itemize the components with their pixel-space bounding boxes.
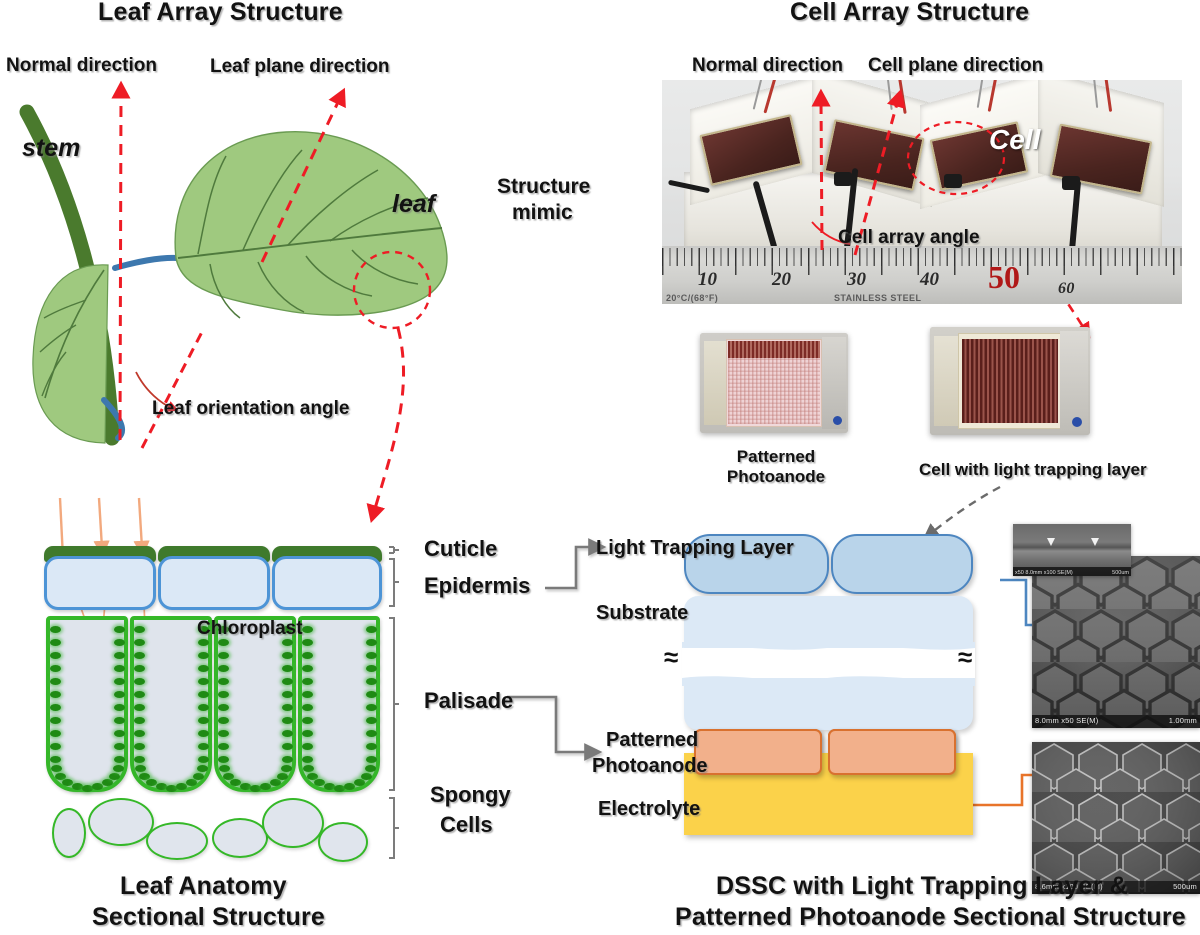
chloroplast-dot [277, 773, 288, 780]
epidermis-cell-3 [272, 556, 382, 610]
chloroplast-dot [218, 756, 229, 763]
label-cell: Cell [989, 124, 1040, 156]
chloroplast-dot [366, 678, 377, 685]
epidermis-to-ltl-connector [545, 547, 596, 588]
chloroplast-dot [186, 779, 197, 786]
chloroplast-dot [114, 678, 125, 685]
chloroplast-dot [366, 717, 377, 724]
chloroplast-dot [134, 730, 145, 737]
chloroplast-dot [198, 704, 209, 711]
chloroplast-dot [50, 717, 61, 724]
spongy-cell-1 [52, 808, 86, 858]
spongy-cell-2 [88, 798, 154, 846]
chloroplast-dot [218, 730, 229, 737]
chloroplast-dot [282, 639, 293, 646]
caption-pa-line2: Photoanode [727, 467, 825, 486]
label-normal-direction-left: Normal direction [6, 55, 157, 77]
spongy-cell-5 [262, 798, 324, 848]
chloroplast-dot [218, 743, 229, 750]
chloroplast-dot [250, 785, 261, 792]
chloroplast-dot [134, 639, 145, 646]
chloroplast-dot [50, 730, 61, 737]
label-structure-mimic-line2: mimic [512, 201, 573, 225]
patterned-photoanode-block-2-overlay [828, 729, 956, 775]
chloroplast-dot [302, 678, 313, 685]
chloroplast-dot [134, 665, 145, 672]
label-cell-array-angle: Cell array angle [838, 227, 980, 249]
chloroplast-dot [166, 785, 177, 792]
label-epidermis: Epidermis [424, 573, 530, 599]
panel-title-leaf-array: Leaf Array Structure [98, 0, 343, 27]
chloroplast-dot [218, 639, 229, 646]
sem-bottom-scale-right: 500um [1173, 882, 1197, 891]
chloroplast-dot [50, 704, 61, 711]
label-substrate: Substrate [596, 602, 688, 625]
leaf-zoom-circle [354, 252, 430, 328]
chloroplast-dot [114, 743, 125, 750]
chloroplast-dot [134, 691, 145, 698]
chloroplast-dot [366, 639, 377, 646]
chloroplast-dot [114, 717, 125, 724]
label-cuticle: Cuticle [424, 536, 497, 562]
label-spongy-line1: Spongy [430, 782, 511, 808]
chloroplast-dot [282, 717, 293, 724]
chloroplast-dot [198, 678, 209, 685]
chloroplast-dot [114, 665, 125, 672]
big-leaf-shape [175, 132, 447, 315]
sem-image-light-trapping-layer: 8.0mm x50 SE(M) 1.00mm [1032, 556, 1200, 728]
chloroplast-dot [114, 756, 125, 763]
chloroplast-dot [218, 691, 229, 698]
chloroplast-dot [302, 626, 313, 633]
figure-root: Leaf Array Structure Cell Array Structur… [0, 0, 1200, 935]
chloroplast-dot [282, 704, 293, 711]
chloroplast-dot [366, 652, 377, 659]
chloroplast-dot [50, 665, 61, 672]
chloroplast-dot [302, 639, 313, 646]
label-leaf: leaf [392, 190, 435, 219]
chloroplast-dot [324, 783, 335, 790]
chloroplast-dot [366, 730, 377, 737]
chloroplast-dot [282, 652, 293, 659]
chloroplast-dot [282, 743, 293, 750]
chloroplast-dot [302, 730, 313, 737]
steel-ruler: 10 20 30 40 50 60 20°C/(68°F) STAINLESS … [662, 246, 1182, 304]
substrate-break-right: ≈ [958, 642, 972, 673]
chloroplast-dot [156, 783, 167, 790]
label-patterned-line1: Patterned [606, 729, 698, 752]
light-trapping-layer-block-2 [831, 534, 973, 594]
chloroplast-dot [218, 665, 229, 672]
label-palisade: Palisade [424, 688, 513, 714]
chloroplast-dot [282, 665, 293, 672]
chloroplast-dot [282, 691, 293, 698]
bottom-left-title-line1: Leaf Anatomy [120, 872, 287, 901]
chloroplast-dot [354, 779, 365, 786]
bottom-right-title-line1: DSSC with Light Trapping Layer & [716, 872, 1128, 901]
chloroplast-dot [198, 691, 209, 698]
chloroplast-dot [134, 626, 145, 633]
patterned-photoanode-photo [700, 333, 848, 433]
chloroplast-dot [50, 691, 61, 698]
chloroplast-dot [50, 639, 61, 646]
substrate-break-left: ≈ [664, 642, 678, 673]
chloroplast-dot [218, 717, 229, 724]
palisade-to-photoanode-connector [507, 697, 592, 752]
chloroplast-dot [198, 639, 209, 646]
chloroplast-dot [72, 783, 83, 790]
leaf-to-anatomy-connector [374, 328, 404, 512]
petiole-upper [115, 258, 178, 268]
bottom-right-title-line2: Patterned Photoanode Sectional Structure [675, 903, 1186, 932]
epidermis-cell-1 [44, 556, 156, 610]
chloroplast-dot [50, 626, 61, 633]
chloroplast-dot [114, 639, 125, 646]
label-spongy-line2: Cells [440, 812, 493, 838]
label-electrolyte: Electrolyte [598, 798, 700, 821]
chloroplast-dot [198, 743, 209, 750]
chloroplast-dot [240, 783, 251, 790]
chloroplast-dot [302, 756, 313, 763]
chloroplast-dot [114, 691, 125, 698]
label-cell-plane-direction: Cell plane direction [868, 55, 1043, 77]
chloroplast-dot [334, 785, 345, 792]
chloroplast-dot [50, 756, 61, 763]
chloroplast-dot [302, 691, 313, 698]
label-normal-direction-right: Normal direction [692, 55, 843, 77]
petiole-lower [104, 400, 122, 438]
chloroplast-dot [134, 652, 145, 659]
chloroplast-dot [109, 773, 120, 780]
patterned-photoanode-block-1-overlay [694, 729, 822, 775]
chloroplast-dot [302, 704, 313, 711]
chloroplast-dot [50, 743, 61, 750]
chloroplast-dot [134, 756, 145, 763]
chloroplast-dot [302, 743, 313, 750]
chloroplast-dot [302, 665, 313, 672]
label-light-trapping-layer: Light Trapping Layer [596, 537, 794, 560]
chloroplast-dot [218, 704, 229, 711]
label-patterned-line2: Photoanode [592, 755, 708, 778]
caption-pa-line1: Patterned [737, 447, 815, 466]
chloroplast-dot [198, 665, 209, 672]
epidermis-cell-2 [158, 556, 270, 610]
chloroplast-dot [282, 678, 293, 685]
chloroplast-dot [114, 626, 125, 633]
label-leaf-plane-direction: Leaf plane direction [210, 56, 389, 78]
chloroplast-dot [193, 773, 204, 780]
spongy-cell-3 [146, 822, 208, 860]
chloroplast-dot [198, 730, 209, 737]
normal-direction-arrow-left [120, 92, 121, 440]
sem-top-scale-right: 1.00mm [1169, 716, 1197, 725]
cell-with-light-trapping-layer-photo [930, 327, 1090, 435]
chloroplast-dot [114, 652, 125, 659]
label-stem: stem [22, 134, 80, 163]
chloroplast-dot [114, 730, 125, 737]
chloroplast-dot [366, 704, 377, 711]
label-chloroplast: Chloroplast [197, 618, 303, 640]
cell-array-photo: 10 20 30 40 50 60 20°C/(68°F) STAINLESS … [662, 80, 1182, 304]
chloroplast-dot [361, 773, 372, 780]
chloroplast-dot [50, 678, 61, 685]
chloroplast-dot [134, 743, 145, 750]
spongy-cell-6 [318, 822, 368, 862]
chloroplast-dot [282, 756, 293, 763]
chloroplast-dot [198, 756, 209, 763]
chloroplast-dot [82, 785, 93, 792]
sem-top-scale-left: 8.0mm x50 SE(M) [1035, 716, 1098, 725]
chloroplast-dot [198, 717, 209, 724]
chloroplast-dot [50, 652, 61, 659]
chloroplast-dot [366, 743, 377, 750]
chloroplast-dot [366, 626, 377, 633]
chloroplast-dot [302, 652, 313, 659]
sem-scalebar-top: 8.0mm x50 SE(M) 1.00mm [1032, 715, 1200, 728]
label-leaf-orientation-angle: Leaf orientation angle [152, 398, 349, 420]
anatomy-brackets [389, 547, 399, 858]
chloroplast-dot [218, 678, 229, 685]
spongy-cell-4 [212, 818, 268, 858]
bottom-left-title-line2: Sectional Structure [92, 903, 325, 932]
chloroplast-dot [218, 652, 229, 659]
chloroplast-dot [302, 717, 313, 724]
label-structure-mimic-line1: Structure [497, 175, 590, 199]
caption-patterned-photoanode: Patterned Photoanode [706, 447, 846, 487]
chloroplast-dot [366, 756, 377, 763]
chloroplast-dot [102, 779, 113, 786]
caption-cell-with-ltl: Cell with light trapping layer [919, 460, 1147, 480]
chloroplast-dot [366, 665, 377, 672]
chloroplast-dot [270, 779, 281, 786]
chloroplast-dot [134, 717, 145, 724]
panel-title-cell-array: Cell Array Structure [790, 0, 1029, 27]
chloroplast-dot [134, 678, 145, 685]
chloroplast-dot [282, 730, 293, 737]
chloroplast-dot [198, 652, 209, 659]
chloroplast-dot [366, 691, 377, 698]
chloroplast-dot [114, 704, 125, 711]
ltl-caption-connector [930, 487, 1000, 534]
small-leaf-shape [33, 265, 108, 443]
leaf-orientation-ray [142, 328, 204, 448]
chloroplast-dot [134, 704, 145, 711]
leaf-plane-direction-arrow [262, 98, 340, 262]
substrate-block [684, 596, 973, 730]
sem-inset-cross-section: x50 8.0mm x100 SE(M) 500um [1013, 524, 1131, 576]
